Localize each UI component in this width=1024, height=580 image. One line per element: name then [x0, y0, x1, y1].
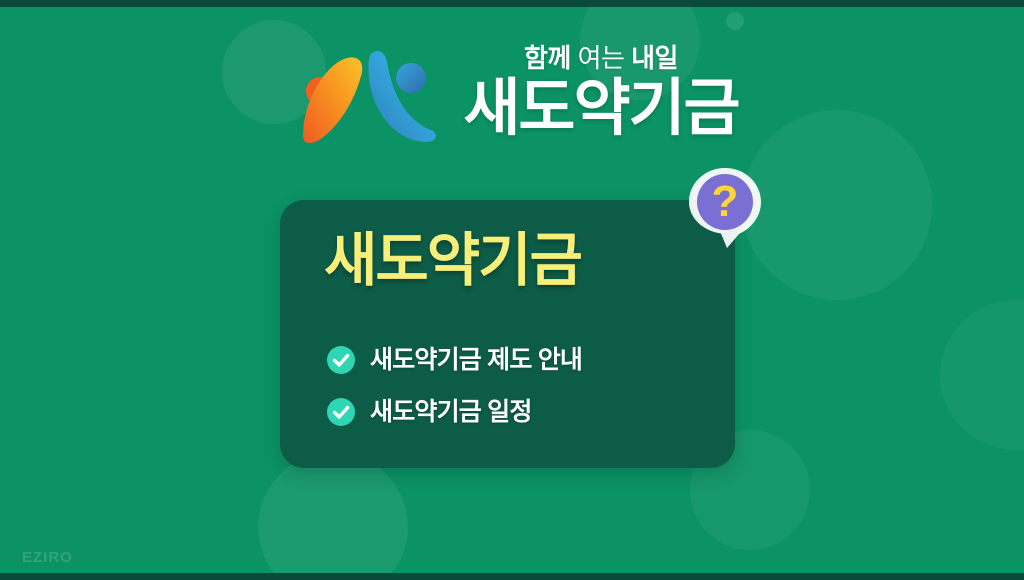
two-people-logo-icon [285, 36, 445, 148]
tagline-part-2: 여는 [578, 43, 625, 73]
card-title: 새도약기금 [324, 232, 581, 290]
slide-canvas: 함께 여는 내일 새도약기금 새도약기금 새도약기금 제도 안내 [0, 0, 1024, 580]
tagline-part-1: 함께 [524, 43, 571, 73]
question-mark-bubble-icon[interactable]: ? [681, 162, 769, 250]
watermark-logo: EZIRO [22, 549, 73, 566]
list-item-label: 새도약기금 일정 [370, 400, 532, 425]
content-card: 새도약기금 새도약기금 제도 안내 새도약기금 일정 [280, 200, 735, 468]
letterbox-bar-bottom [0, 573, 1024, 580]
list-item[interactable]: 새도약기금 일정 [326, 397, 582, 427]
question-mark-glyph: ? [712, 177, 739, 226]
check-circle-icon [326, 397, 356, 427]
letterbox-bar-top [0, 0, 1024, 7]
tagline-part-3: 내일 [631, 43, 678, 73]
list-item-label: 새도약기금 제도 안내 [370, 348, 582, 373]
brand-wordmark: 새도약기금 [463, 78, 738, 140]
list-item[interactable]: 새도약기금 제도 안내 [326, 345, 582, 375]
brand-tagline: 함께 여는 내일 [524, 45, 678, 71]
check-circle-icon [326, 345, 356, 375]
brand-text-block: 함께 여는 내일 새도약기금 [463, 45, 738, 140]
decor-circle [258, 452, 408, 580]
decor-circle [940, 300, 1024, 450]
card-menu-list: 새도약기금 제도 안내 새도약기금 일정 [326, 345, 582, 427]
brand-header: 함께 여는 내일 새도약기금 [0, 22, 1024, 162]
